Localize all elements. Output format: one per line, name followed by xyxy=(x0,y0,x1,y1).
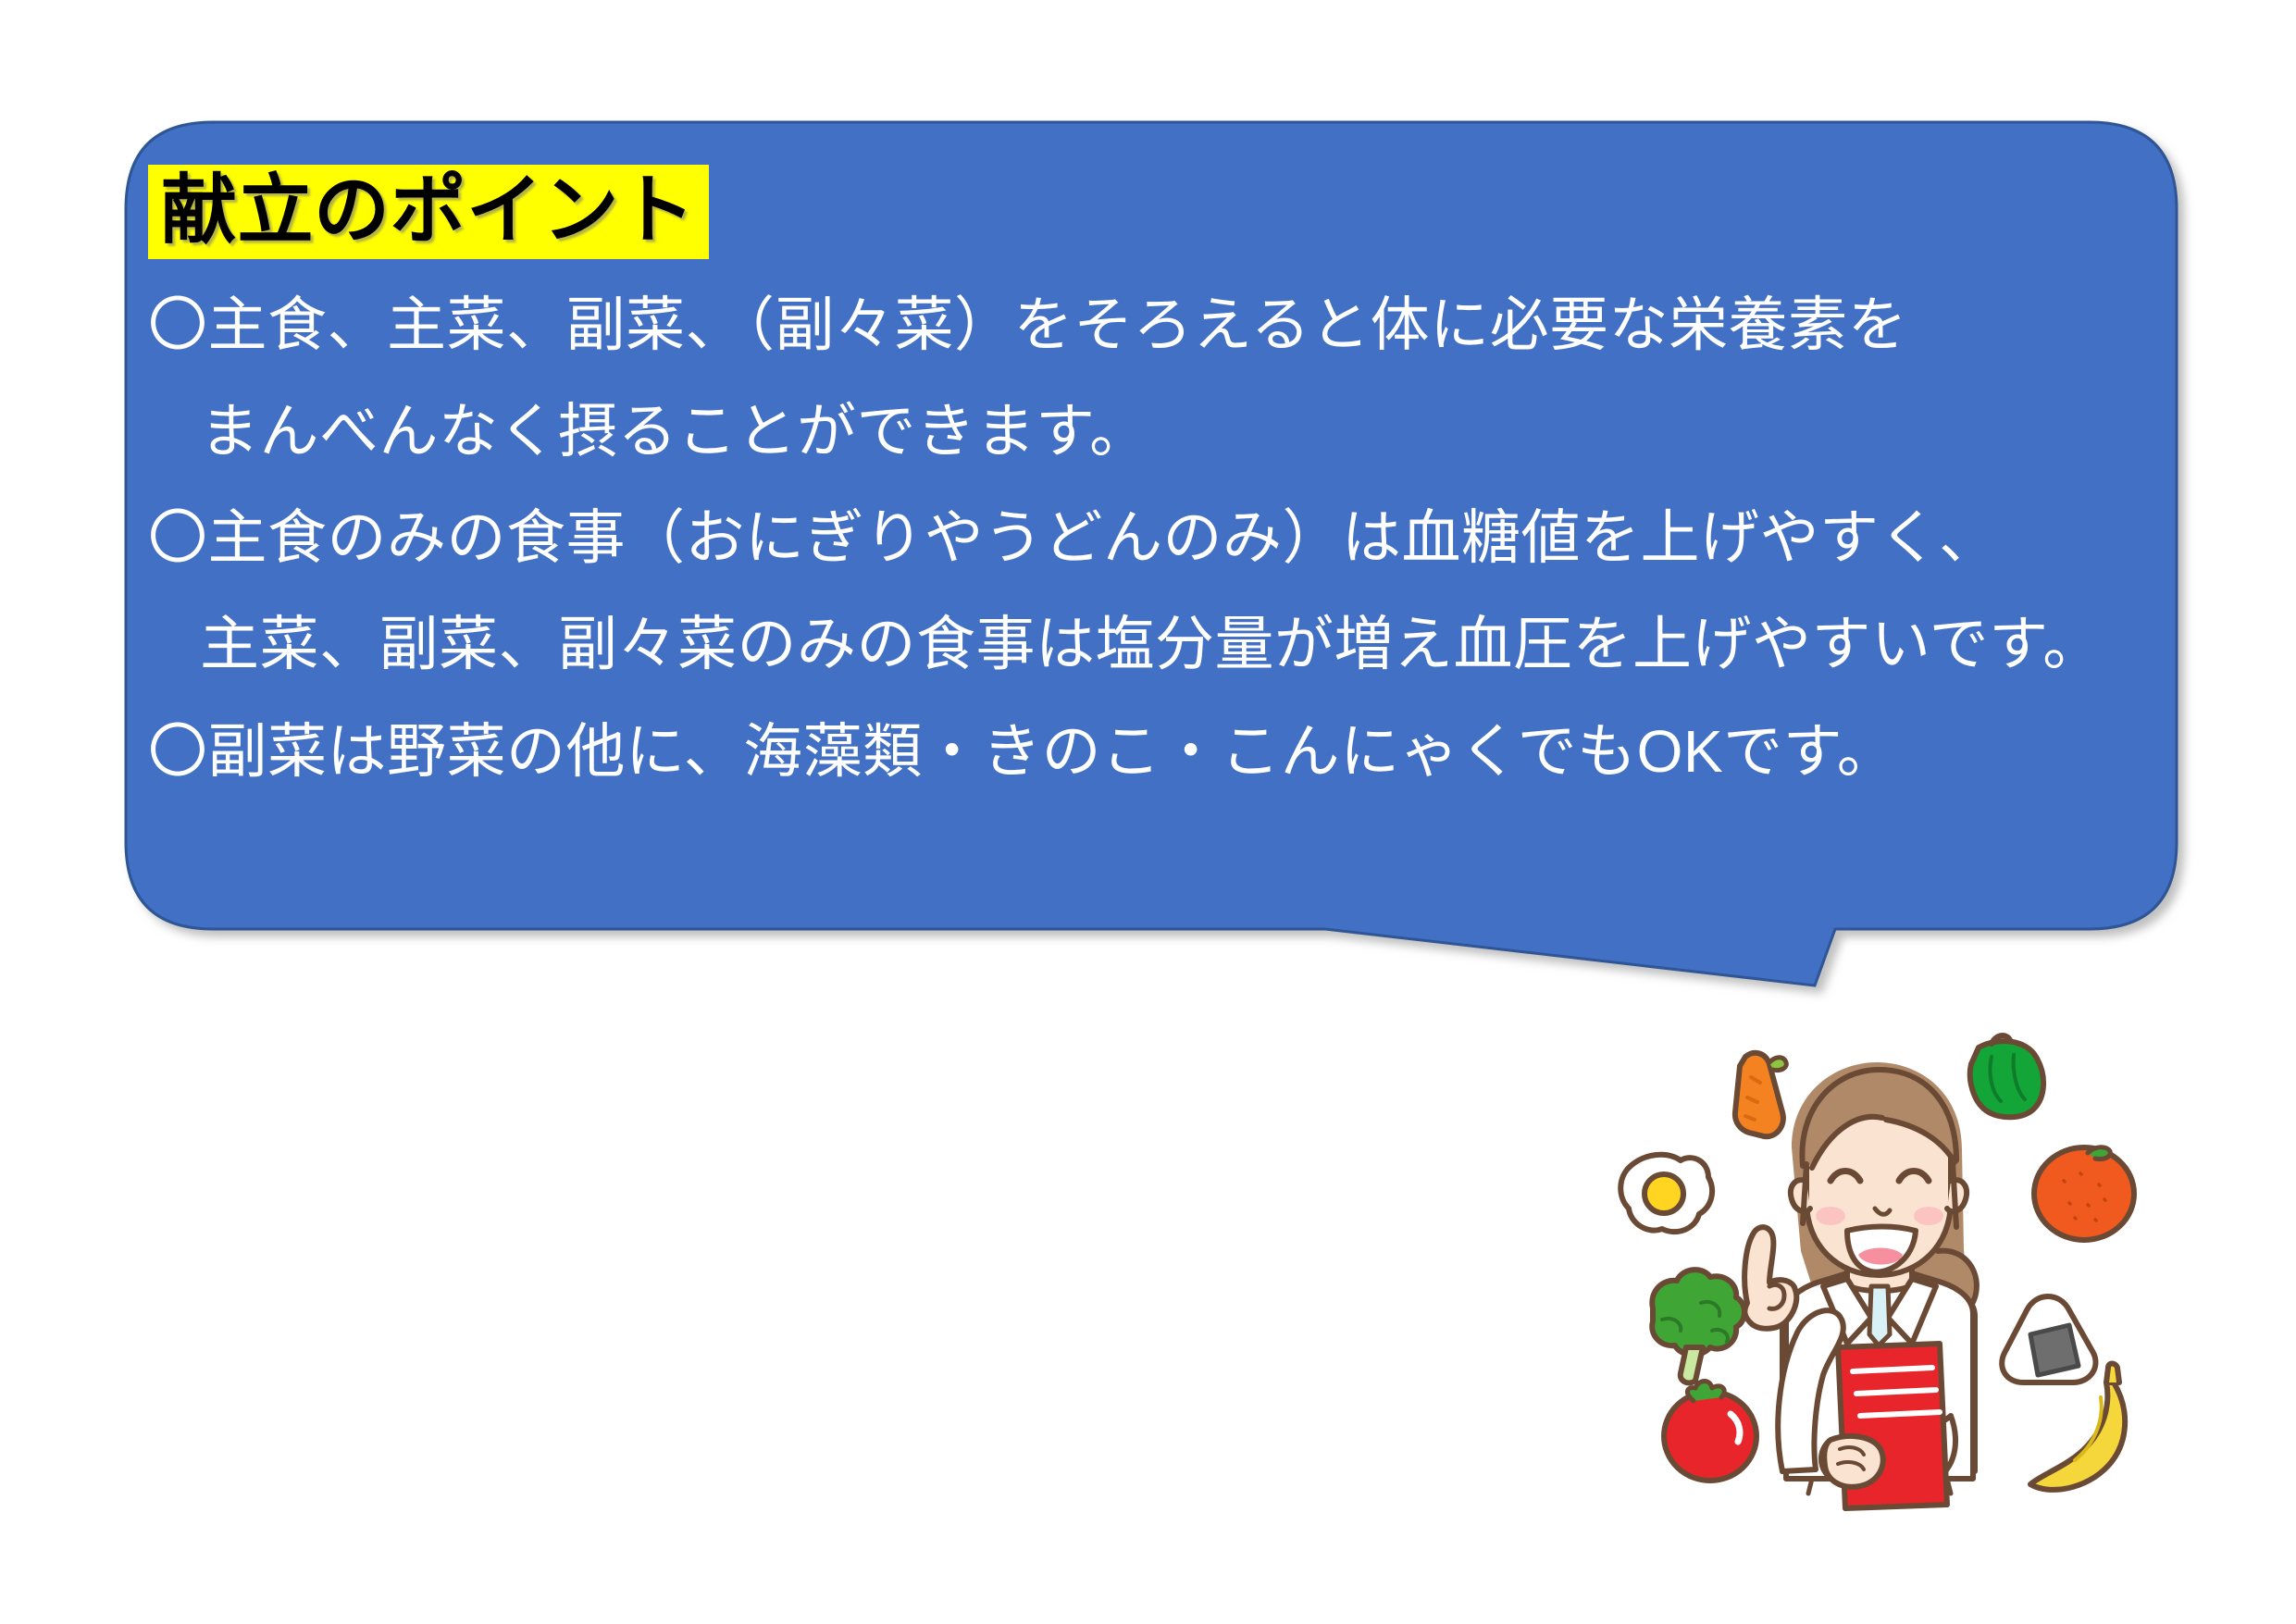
bubble-content: 献立のポイント 〇主食、主菜、副菜、（副々菜）をそろえると体に必要な栄養素を ま… xyxy=(148,165,2175,805)
carrot-icon xyxy=(1735,1053,1786,1136)
fried-egg-icon xyxy=(1620,1155,1712,1232)
nutritionist-illustration xyxy=(1564,1009,2230,1564)
speech-bubble-shape xyxy=(0,0,2296,1036)
bubble-line-3: 〇主食のみの食事（おにぎりやうどんのみ）は血糖値を上げやすく、 xyxy=(148,485,2175,591)
page-title: 献立のポイント xyxy=(148,165,709,259)
bubble-text-lines: 〇主食、主菜、副菜、（副々菜）をそろえると体に必要な栄養素を まんべんなく摂るこ… xyxy=(148,272,2175,805)
broccoli-icon xyxy=(1652,1270,1744,1382)
speech-bubble: 献立のポイント 〇主食、主菜、副菜、（副々菜）をそろえると体に必要な栄養素を ま… xyxy=(0,0,2296,1036)
speech-bubble-path xyxy=(126,122,2177,986)
bubble-line-1: 〇主食、主菜、副菜、（副々菜）をそろえると体に必要な栄養素を xyxy=(148,272,2175,378)
bubble-line-5: 〇副菜は野菜の他に、海藻類・きのこ・こんにゃくでもOKです。 xyxy=(148,699,2175,805)
onigiri-icon xyxy=(2002,1296,2095,1382)
bubble-line-4: 主菜、副菜、副々菜のみの食事は塩分量が増え血圧を上げやすいです。 xyxy=(148,591,2175,698)
tomato-icon xyxy=(1664,1382,1756,1481)
green-bell-pepper-icon xyxy=(1970,1035,2043,1117)
orange-icon xyxy=(2034,1147,2134,1240)
bubble-line-2: まんべんなく摂ることができます。 xyxy=(148,378,2175,485)
